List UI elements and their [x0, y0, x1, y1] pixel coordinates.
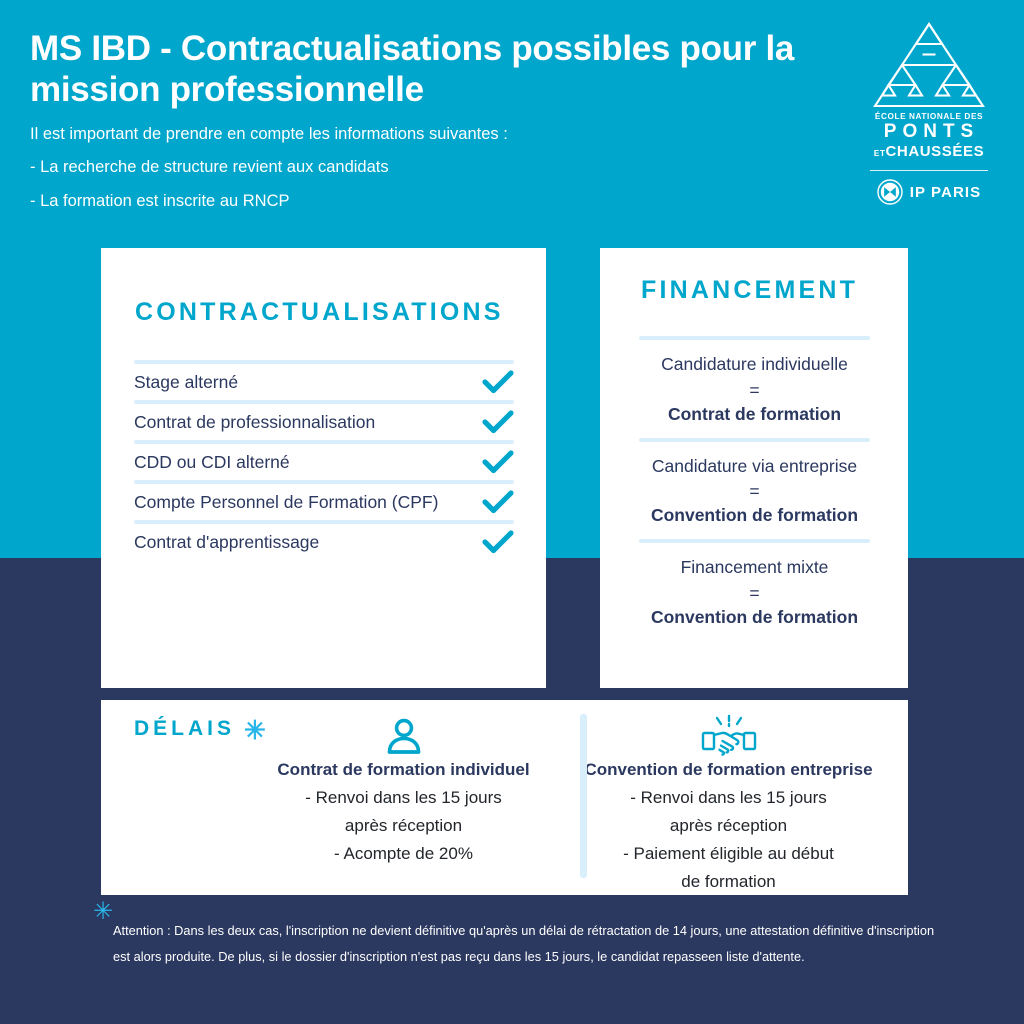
- card-contractualisations: CONTRACTUALISATIONS Stage alterné Contra…: [101, 248, 546, 688]
- check-icon: [482, 449, 514, 475]
- delais-line: de formation: [566, 868, 891, 896]
- financement-condition: Financement mixte: [639, 556, 870, 580]
- logo-et: ET: [874, 148, 886, 158]
- list-item: Contrat d'apprentissage: [134, 524, 514, 560]
- list-item-label: Contrat de professionnalisation: [134, 412, 375, 433]
- delais-column-heading: Contrat de formation individuel: [241, 760, 566, 780]
- footnote-asterisk-icon: ✳: [93, 900, 113, 924]
- logo-line-chaussees: ETCHAUSSÉES: [864, 143, 994, 161]
- delais-line: - Renvoi dans les 15 jours: [241, 784, 566, 812]
- infographic-page: MS IBD - Contractualisations possibles p…: [0, 0, 1024, 1024]
- delais-line: après réception: [566, 812, 891, 840]
- logo-divider: [870, 170, 988, 172]
- header-bullet-2: - La formation est inscrite au RNCP: [30, 192, 860, 212]
- financement-list: Candidature individuelle = Contrat de fo…: [639, 336, 870, 641]
- card-financement: FINANCEMENT Candidature individuelle = C…: [600, 248, 908, 688]
- delais-columns: Contrat de formation individuel - Renvoi…: [241, 712, 891, 896]
- ip-paris-logo-icon: [877, 179, 903, 205]
- financement-title: FINANCEMENT: [641, 276, 858, 305]
- financement-block: Candidature via entreprise = Convention …: [639, 442, 870, 540]
- logo-block: ÉCOLE NATIONALE DES PONTS ETCHAUSSÉES IP…: [864, 20, 994, 205]
- check-icon: [482, 369, 514, 395]
- check-icon: [482, 409, 514, 435]
- footnote-text: Attention : Dans les deux cas, l'inscrip…: [113, 918, 939, 970]
- sierpinski-triangle-icon: [871, 20, 987, 110]
- ip-paris-block: IP PARIS: [864, 179, 994, 205]
- header-bullet-1: - La recherche de structure revient aux …: [30, 158, 860, 178]
- check-icon: [482, 489, 514, 515]
- page-title: MS IBD - Contractualisations possibles p…: [30, 28, 830, 111]
- delais-vertical-divider: [580, 714, 587, 878]
- financement-condition: Candidature individuelle: [639, 353, 870, 377]
- contractualisations-title: CONTRACTUALISATIONS: [135, 298, 504, 327]
- header: MS IBD - Contractualisations possibles p…: [30, 28, 860, 226]
- financement-condition: Candidature via entreprise: [639, 455, 870, 479]
- financement-equals: =: [639, 478, 870, 504]
- financement-equals: =: [639, 377, 870, 403]
- financement-result: Convention de formation: [639, 504, 870, 528]
- list-item-label: Stage alterné: [134, 372, 238, 393]
- financement-block: Financement mixte = Convention de format…: [639, 543, 870, 641]
- list-item-label: CDD ou CDI alterné: [134, 452, 290, 473]
- financement-equals: =: [639, 580, 870, 606]
- list-item: CDD ou CDI alterné: [134, 444, 514, 480]
- list-item-label: Contrat d'apprentissage: [134, 532, 319, 553]
- logo-line-ecole: ÉCOLE NATIONALE DES: [864, 112, 994, 121]
- list-item-label: Compte Personnel de Formation (CPF): [134, 492, 438, 513]
- delais-column-heading: Convention de formation entreprise: [566, 760, 891, 780]
- header-subtitle: Il est important de prendre en compte le…: [30, 125, 860, 145]
- handshake-icon: [700, 714, 758, 758]
- list-item: Stage alterné: [134, 364, 514, 400]
- delais-column-entreprise: Convention de formation entreprise - Ren…: [566, 712, 891, 896]
- delais-title-label: DÉLAIS: [134, 717, 235, 740]
- list-item: Contrat de professionnalisation: [134, 404, 514, 440]
- contractualisations-list: Stage alterné Contrat de professionnalis…: [134, 360, 514, 560]
- list-item: Compte Personnel de Formation (CPF): [134, 484, 514, 520]
- card-delais: DÉLAIS✳ Contrat de formation individuel …: [101, 700, 908, 895]
- logo-chaussees: CHAUSSÉES: [885, 143, 984, 160]
- check-icon: [482, 529, 514, 555]
- delais-line: - Renvoi dans les 15 jours: [566, 784, 891, 812]
- delais-line: - Paiement éligible au début: [566, 840, 891, 868]
- logo-line-ponts: PONTS: [869, 121, 994, 143]
- person-icon: [383, 716, 425, 758]
- delais-line: après réception: [241, 812, 566, 840]
- delais-column-individual: Contrat de formation individuel - Renvoi…: [241, 712, 566, 896]
- financement-block: Candidature individuelle = Contrat de fo…: [639, 340, 870, 438]
- ip-paris-label: IP PARIS: [910, 184, 982, 201]
- delais-line: - Acompte de 20%: [241, 840, 566, 868]
- financement-result: Contrat de formation: [639, 403, 870, 427]
- financement-result: Convention de formation: [639, 606, 870, 630]
